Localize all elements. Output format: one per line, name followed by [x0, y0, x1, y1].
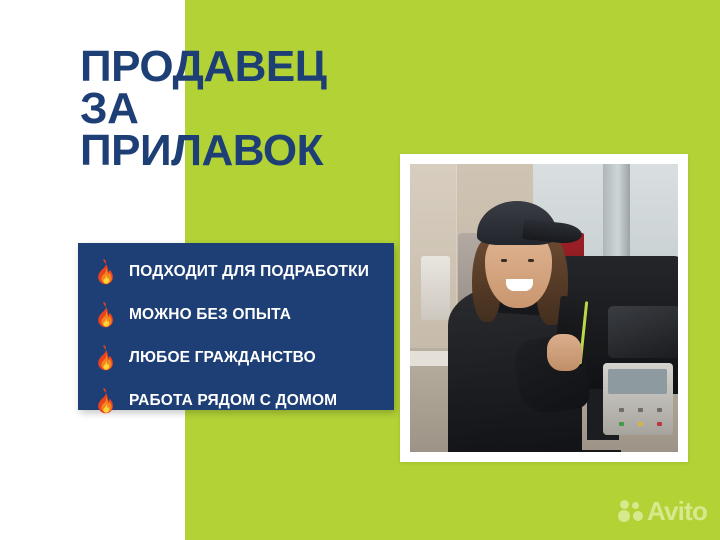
pos-monitor-screen — [608, 306, 678, 359]
benefit-label: МОЖНО БЕЗ ОПЫТА — [129, 306, 291, 324]
pos-key — [638, 422, 643, 426]
fire-icon — [94, 388, 116, 414]
avito-wordmark: Avito — [647, 498, 707, 524]
avito-dot — [633, 511, 643, 521]
avito-dot — [618, 510, 630, 522]
fire-icon — [94, 345, 116, 371]
fire-icon — [94, 259, 116, 285]
benefit-label: ПОДХОДИТ ДЛЯ ПОДРАБОТКИ — [129, 263, 369, 281]
benefits-card: ПОДХОДИТ ДЛЯ ПОДРАБОТКИ МОЖНО БЕЗ ОПЫТА — [78, 243, 394, 410]
pos-key — [657, 408, 662, 412]
pos-key — [657, 422, 662, 426]
avito-dot — [632, 502, 639, 509]
person-eye — [528, 259, 534, 262]
pos-key — [638, 408, 643, 412]
photo-frame — [400, 154, 688, 462]
headline-line-1: ПРОДАВЕЦ — [80, 46, 500, 88]
fire-icon — [94, 302, 116, 328]
avito-dots-icon — [618, 499, 644, 523]
headline-line-2: ЗА — [80, 88, 500, 130]
benefit-item: ПОДХОДИТ ДЛЯ ПОДРАБОТКИ — [78, 252, 394, 291]
person-eye — [501, 259, 507, 262]
benefit-item: РАБОТА РЯДОМ С ДОМОМ — [78, 381, 394, 420]
person-hand — [547, 334, 582, 371]
advertisement-poster: ПРОДАВЕЦ ЗА ПРИЛАВОК ПОДХОДИТ ДЛЯ ПОДРАБ… — [0, 0, 720, 540]
benefit-label: РАБОТА РЯДОМ С ДОМОМ — [129, 392, 337, 410]
avito-logo: Avito — [618, 496, 707, 526]
person-smile — [506, 279, 533, 291]
benefit-item: ЛЮБОЕ ГРАЖДАНСТВО — [78, 338, 394, 377]
scene-dispenser — [421, 256, 450, 319]
avito-dot — [620, 500, 629, 509]
benefit-item: МОЖНО БЕЗ ОПЫТА — [78, 295, 394, 334]
cashier-photo — [410, 164, 678, 452]
benefit-label: ЛЮБОЕ ГРАЖДАНСТВО — [129, 349, 316, 367]
